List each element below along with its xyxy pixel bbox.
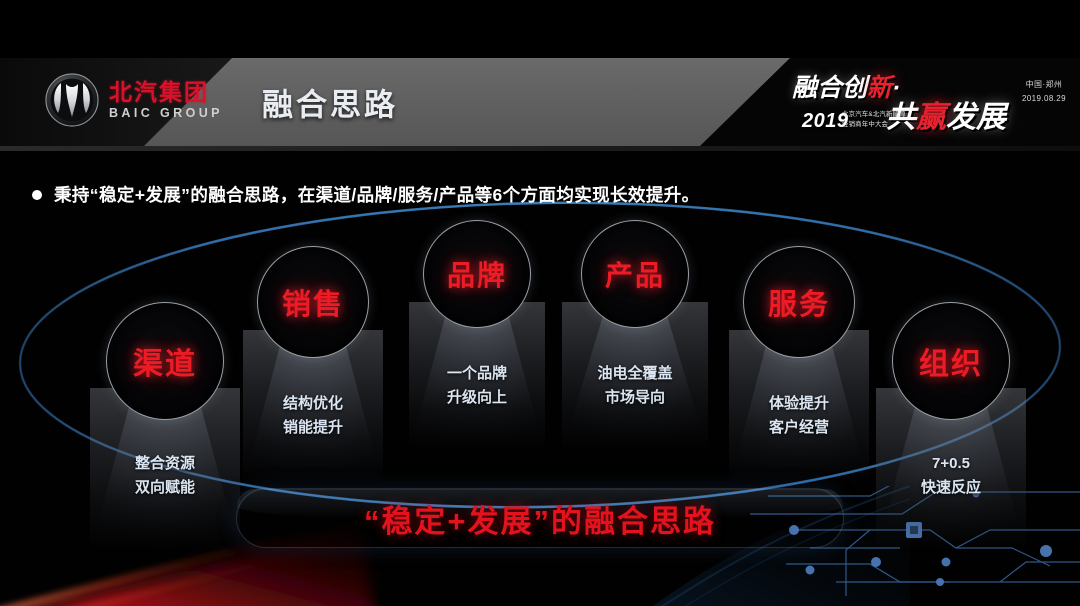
node-desc-line2: 升级向上: [447, 386, 507, 410]
event-date: 2019.08.29: [1022, 92, 1066, 106]
baic-logo-cn: 北汽集团: [109, 80, 223, 104]
summary-banner-text: “稳定+发展”的融合思路: [364, 496, 716, 541]
node-circle[interactable]: 渠道: [106, 302, 224, 420]
node-desc-line1: 结构优化: [283, 392, 343, 416]
node-description: 整合资源 双向赋能: [135, 452, 195, 501]
top-letterbox-band: [0, 0, 1080, 58]
node-title: 服务: [768, 281, 830, 323]
node-desc-line1: 一个品牌: [447, 362, 507, 386]
node-desc-line2: 市场导向: [597, 386, 672, 410]
summary-banner: “稳定+发展”的融合思路: [236, 488, 844, 548]
node-circle[interactable]: 销售: [257, 246, 369, 358]
node-title: 组织: [919, 339, 983, 383]
node-title: 品牌: [447, 254, 507, 294]
baic-logo[interactable]: 北汽集团 BAIC GROUP: [44, 72, 223, 128]
bullet-dot-icon: [32, 190, 42, 200]
node-circle[interactable]: 品牌: [423, 220, 531, 328]
node-description: 结构优化 销能提升: [283, 392, 343, 441]
event-location: 中国·郑州: [1022, 78, 1066, 92]
event-meta: 中国·郑州 2019.08.29: [1022, 78, 1066, 106]
node-description: 油电全覆盖 市场导向: [597, 362, 672, 411]
node-circle[interactable]: 组织: [892, 302, 1010, 420]
header-underline: [0, 146, 1080, 151]
node-desc-line2: 销能提升: [283, 416, 343, 440]
node-product[interactable]: 产品 油电全覆盖 市场导向: [540, 220, 730, 470]
node-desc-line2: 双向赋能: [135, 476, 195, 500]
bullet-text: 秉持“稳定+发展”的融合思路，在渠道/品牌/服务/产品等6个方面均实现长效提升。: [54, 182, 700, 207]
node-desc-line1: 体验提升: [769, 392, 829, 416]
node-service[interactable]: 服务 体验提升 客户经营: [704, 246, 894, 496]
node-description: 体验提升 客户经营: [769, 392, 829, 441]
node-desc-line2: 客户经营: [769, 416, 829, 440]
page-title: 融合思路: [262, 80, 398, 125]
event-line1-a: 融合创: [792, 74, 867, 102]
event-subtitle: 北京汽车&北汽新能源经销商年中大会: [842, 110, 928, 130]
event-branding: 融合创新· 共赢发展 2019 北京汽车&北汽新能源经销商年中大会 中国·郑州 …: [774, 58, 1074, 146]
bullet-point: 秉持“稳定+发展”的融合思路，在渠道/品牌/服务/产品等6个方面均实现长效提升。: [32, 182, 700, 207]
node-desc-line1: 油电全覆盖: [597, 362, 672, 386]
event-line1: 融合创新·: [792, 68, 900, 104]
baic-emblem-icon: [44, 72, 100, 128]
baic-logo-text: 北汽集团 BAIC GROUP: [109, 80, 223, 120]
node-title: 产品: [605, 254, 665, 294]
node-description: 7+0.5 快速反应: [921, 452, 981, 501]
node-title: 销售: [282, 281, 344, 323]
event-line2-c: 发展: [946, 101, 1006, 134]
node-description: 一个品牌 升级向上: [447, 362, 507, 411]
slide-root: 渠道 整合资源 双向赋能 销售 结构优化 销能提升: [0, 0, 1080, 606]
node-desc-line2: 快速反应: [921, 476, 981, 500]
node-title: 渠道: [133, 339, 197, 383]
node-circle[interactable]: 产品: [581, 220, 689, 328]
node-desc-line1: 7+0.5: [921, 452, 981, 476]
baic-logo-en: BAIC GROUP: [109, 106, 223, 120]
node-circle[interactable]: 服务: [743, 246, 855, 358]
node-sales[interactable]: 销售 结构优化 销能提升: [218, 246, 408, 496]
node-organization[interactable]: 组织 7+0.5 快速反应: [856, 302, 1046, 552]
node-desc-line1: 整合资源: [135, 452, 195, 476]
